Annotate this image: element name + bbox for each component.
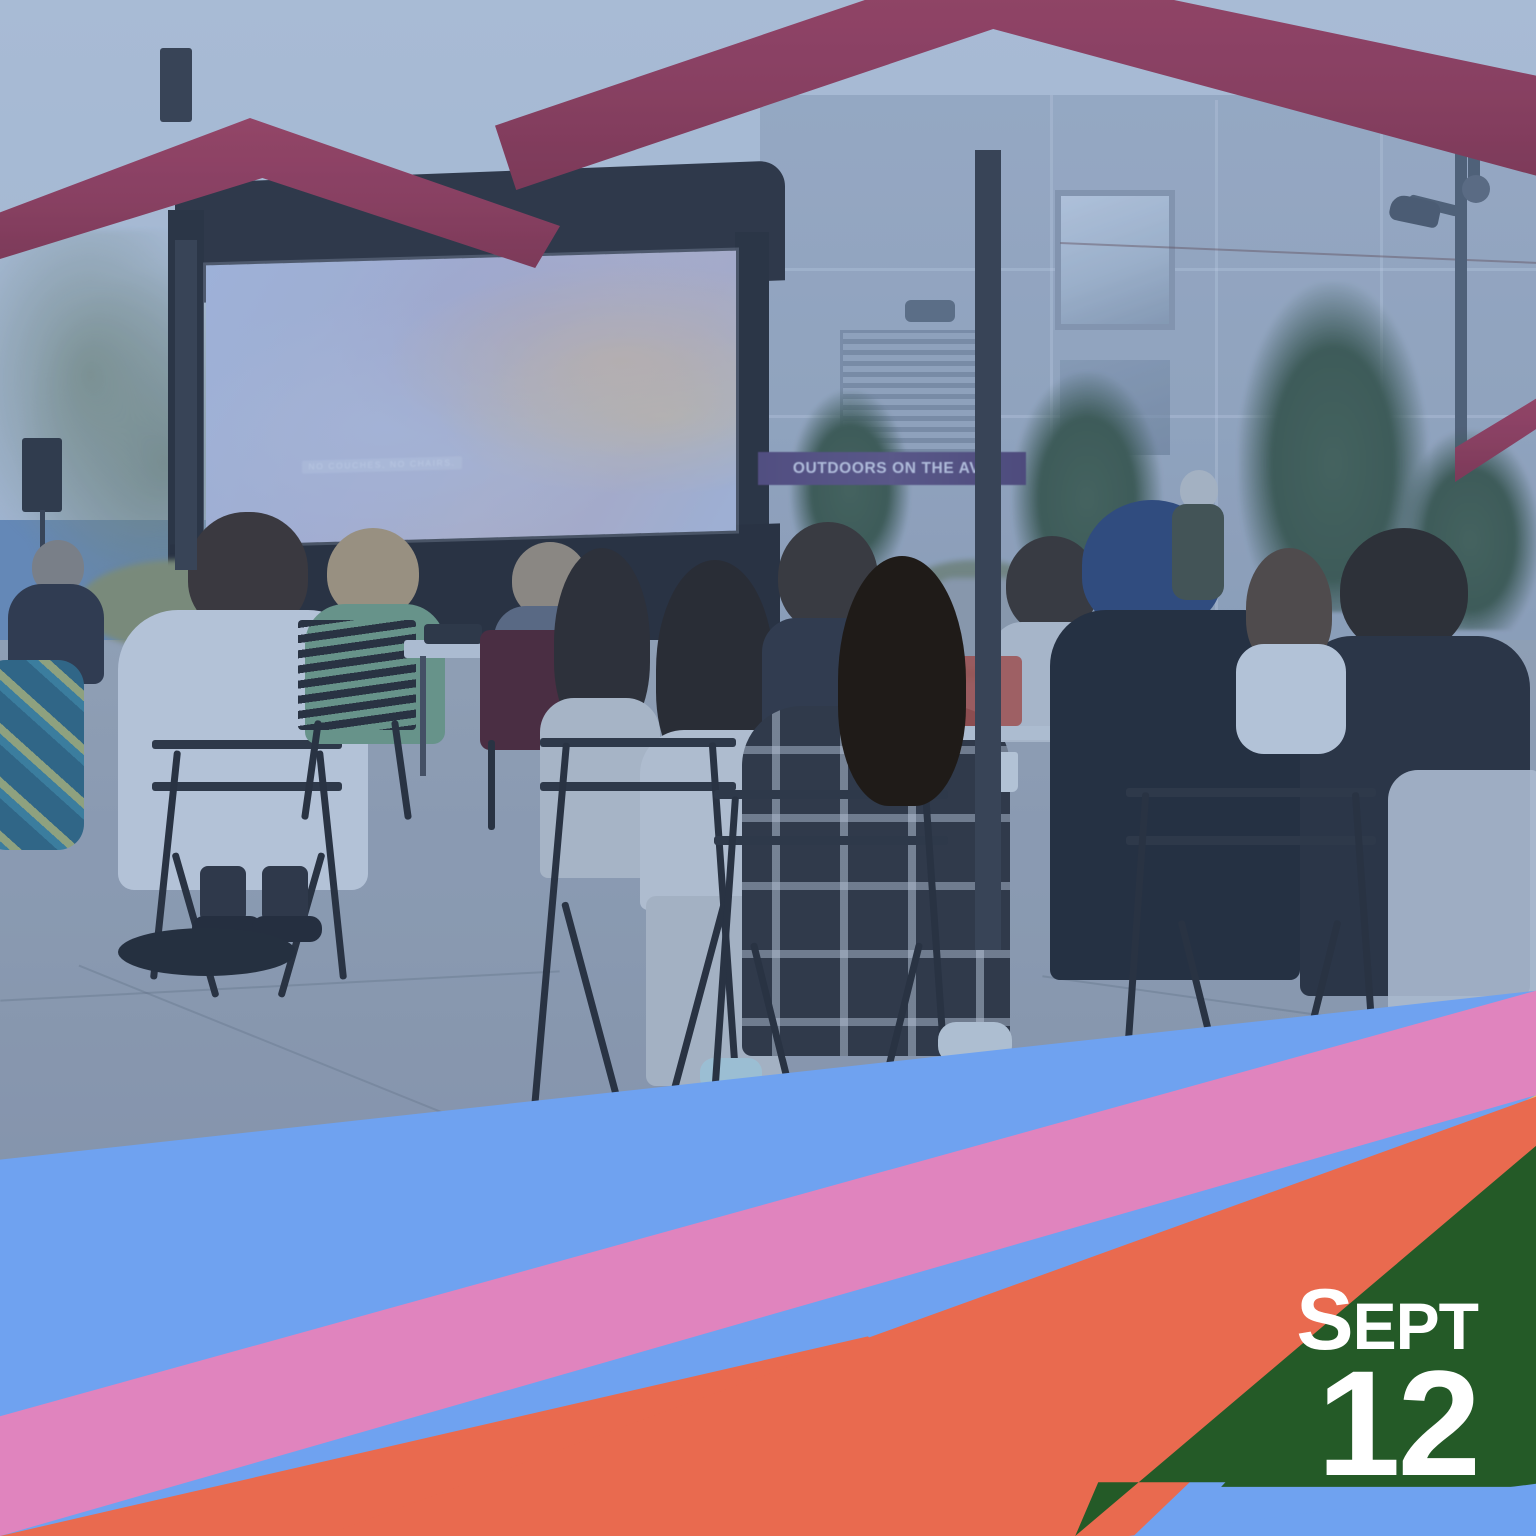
- event-date: SEPT 12: [1296, 1281, 1478, 1492]
- hair: [838, 556, 966, 806]
- event-day: 12: [1296, 1354, 1478, 1492]
- event-poster: NO COUCHES, NO CHAIRS. OUTDOORS ON THE A…: [0, 0, 1536, 1536]
